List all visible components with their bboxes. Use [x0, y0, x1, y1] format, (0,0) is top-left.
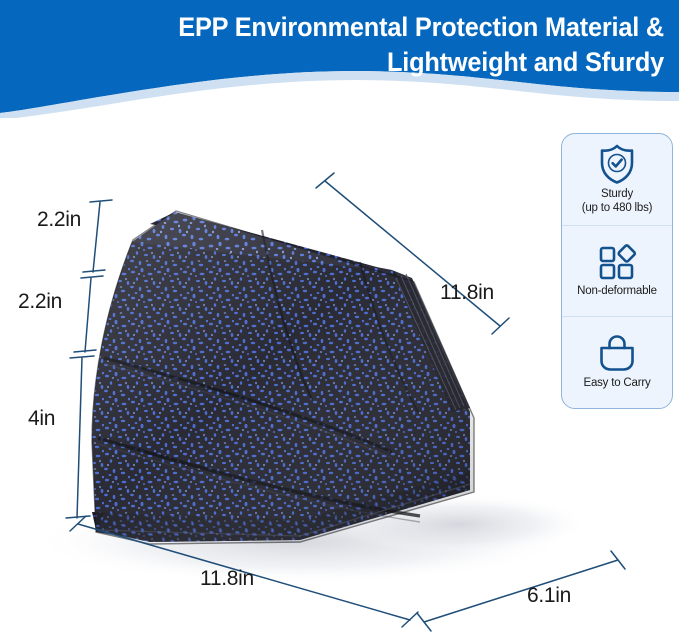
feature-label-non-deformable: Non-deformable: [577, 285, 657, 299]
shield-check-icon: [597, 143, 637, 185]
feature-card-non-deformable: Non-deformable: [562, 225, 672, 317]
page-title: EPP Environmental Protection Material & …: [59, 10, 664, 80]
header-banner: EPP Environmental Protection Material & …: [0, 0, 679, 118]
feature-label-sturdy: Sturdy (up to 480 lbs): [582, 188, 653, 215]
feature-panel: Sturdy (up to 480 lbs) Non-deformable: [561, 133, 673, 409]
handbag-icon: [596, 334, 638, 374]
feature-label-easy-to-carry: Easy to Carry: [583, 377, 650, 391]
feature-card-easy-to-carry: Easy to Carry: [562, 316, 672, 408]
four-shapes-icon: [597, 244, 637, 282]
feature-card-sturdy: Sturdy (up to 480 lbs): [562, 134, 672, 225]
product-infographic: EPP Environmental Protection Material & …: [0, 0, 679, 634]
